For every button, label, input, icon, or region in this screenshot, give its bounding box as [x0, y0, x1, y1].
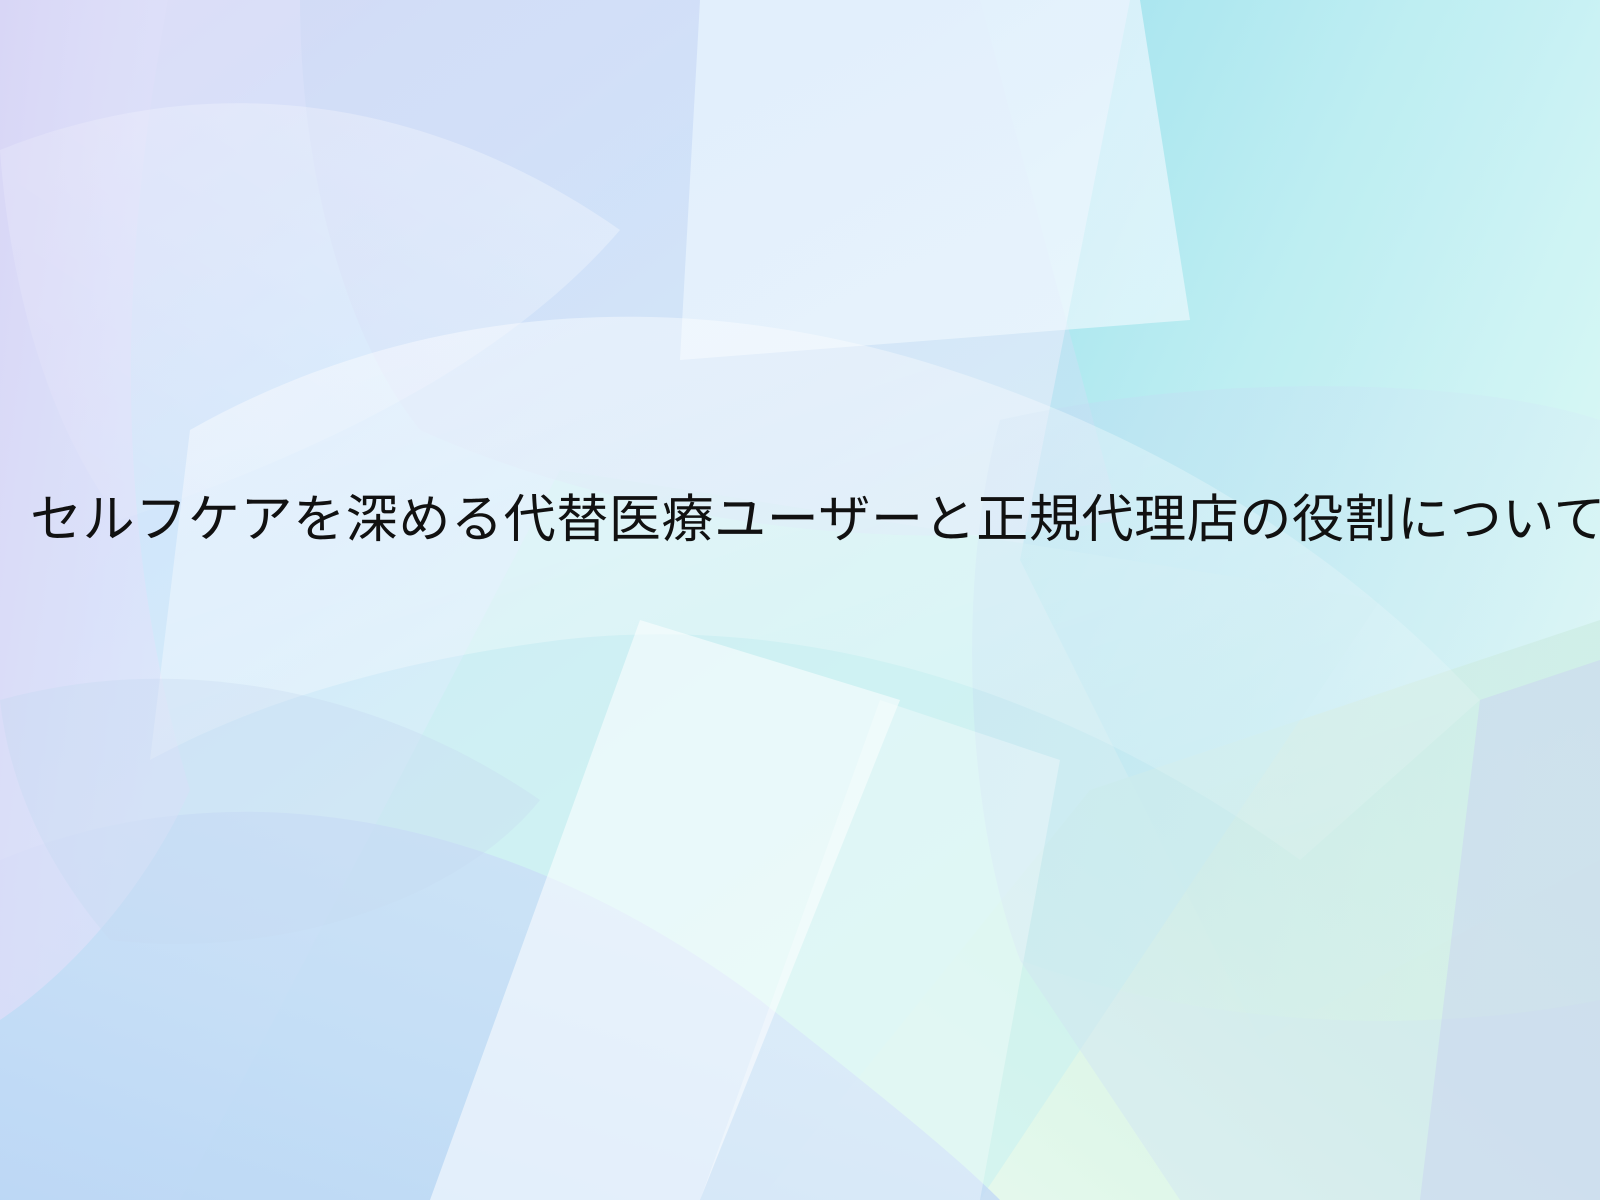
bg-shape-blue-facet-mid-left	[0, 679, 540, 944]
bg-soft-light-overlay	[0, 0, 1600, 1200]
background-artwork	[0, 0, 1600, 1200]
slide-background	[0, 0, 1600, 1200]
bg-shape-periwinkle-right-edge	[1420, 660, 1600, 1200]
bg-shape-white-diagonal-2	[700, 700, 1060, 1200]
bg-shape-white-diagonal	[430, 620, 900, 1200]
title-block: セルフケアを深める代替医療ユーザーと正規代理店の役割について解説します	[0, 476, 1600, 564]
bg-shape-white-sweep	[150, 317, 1480, 860]
bg-shape-blue-bottom-left	[0, 812, 1000, 1200]
bg-shape-ice-top-centre	[680, 0, 1190, 360]
bg-shape-steel-bottom-right	[1020, 960, 1600, 1200]
bg-shape-white-facet-upper-left	[0, 103, 620, 520]
bg-shape-periwinkle-upper	[300, 0, 1120, 536]
bg-base-gradient	[0, 0, 1600, 1200]
slide-canvas: セルフケアを深める代替医療ユーザーと正規代理店の役割について解説します	[0, 0, 1600, 1200]
slide-title: セルフケアを深める代替医療ユーザーと正規代理店の役割について解説します	[30, 476, 1570, 564]
bg-shape-cyan-band	[180, 470, 1380, 1200]
bg-shape-mint-bottom-right	[760, 620, 1600, 1200]
